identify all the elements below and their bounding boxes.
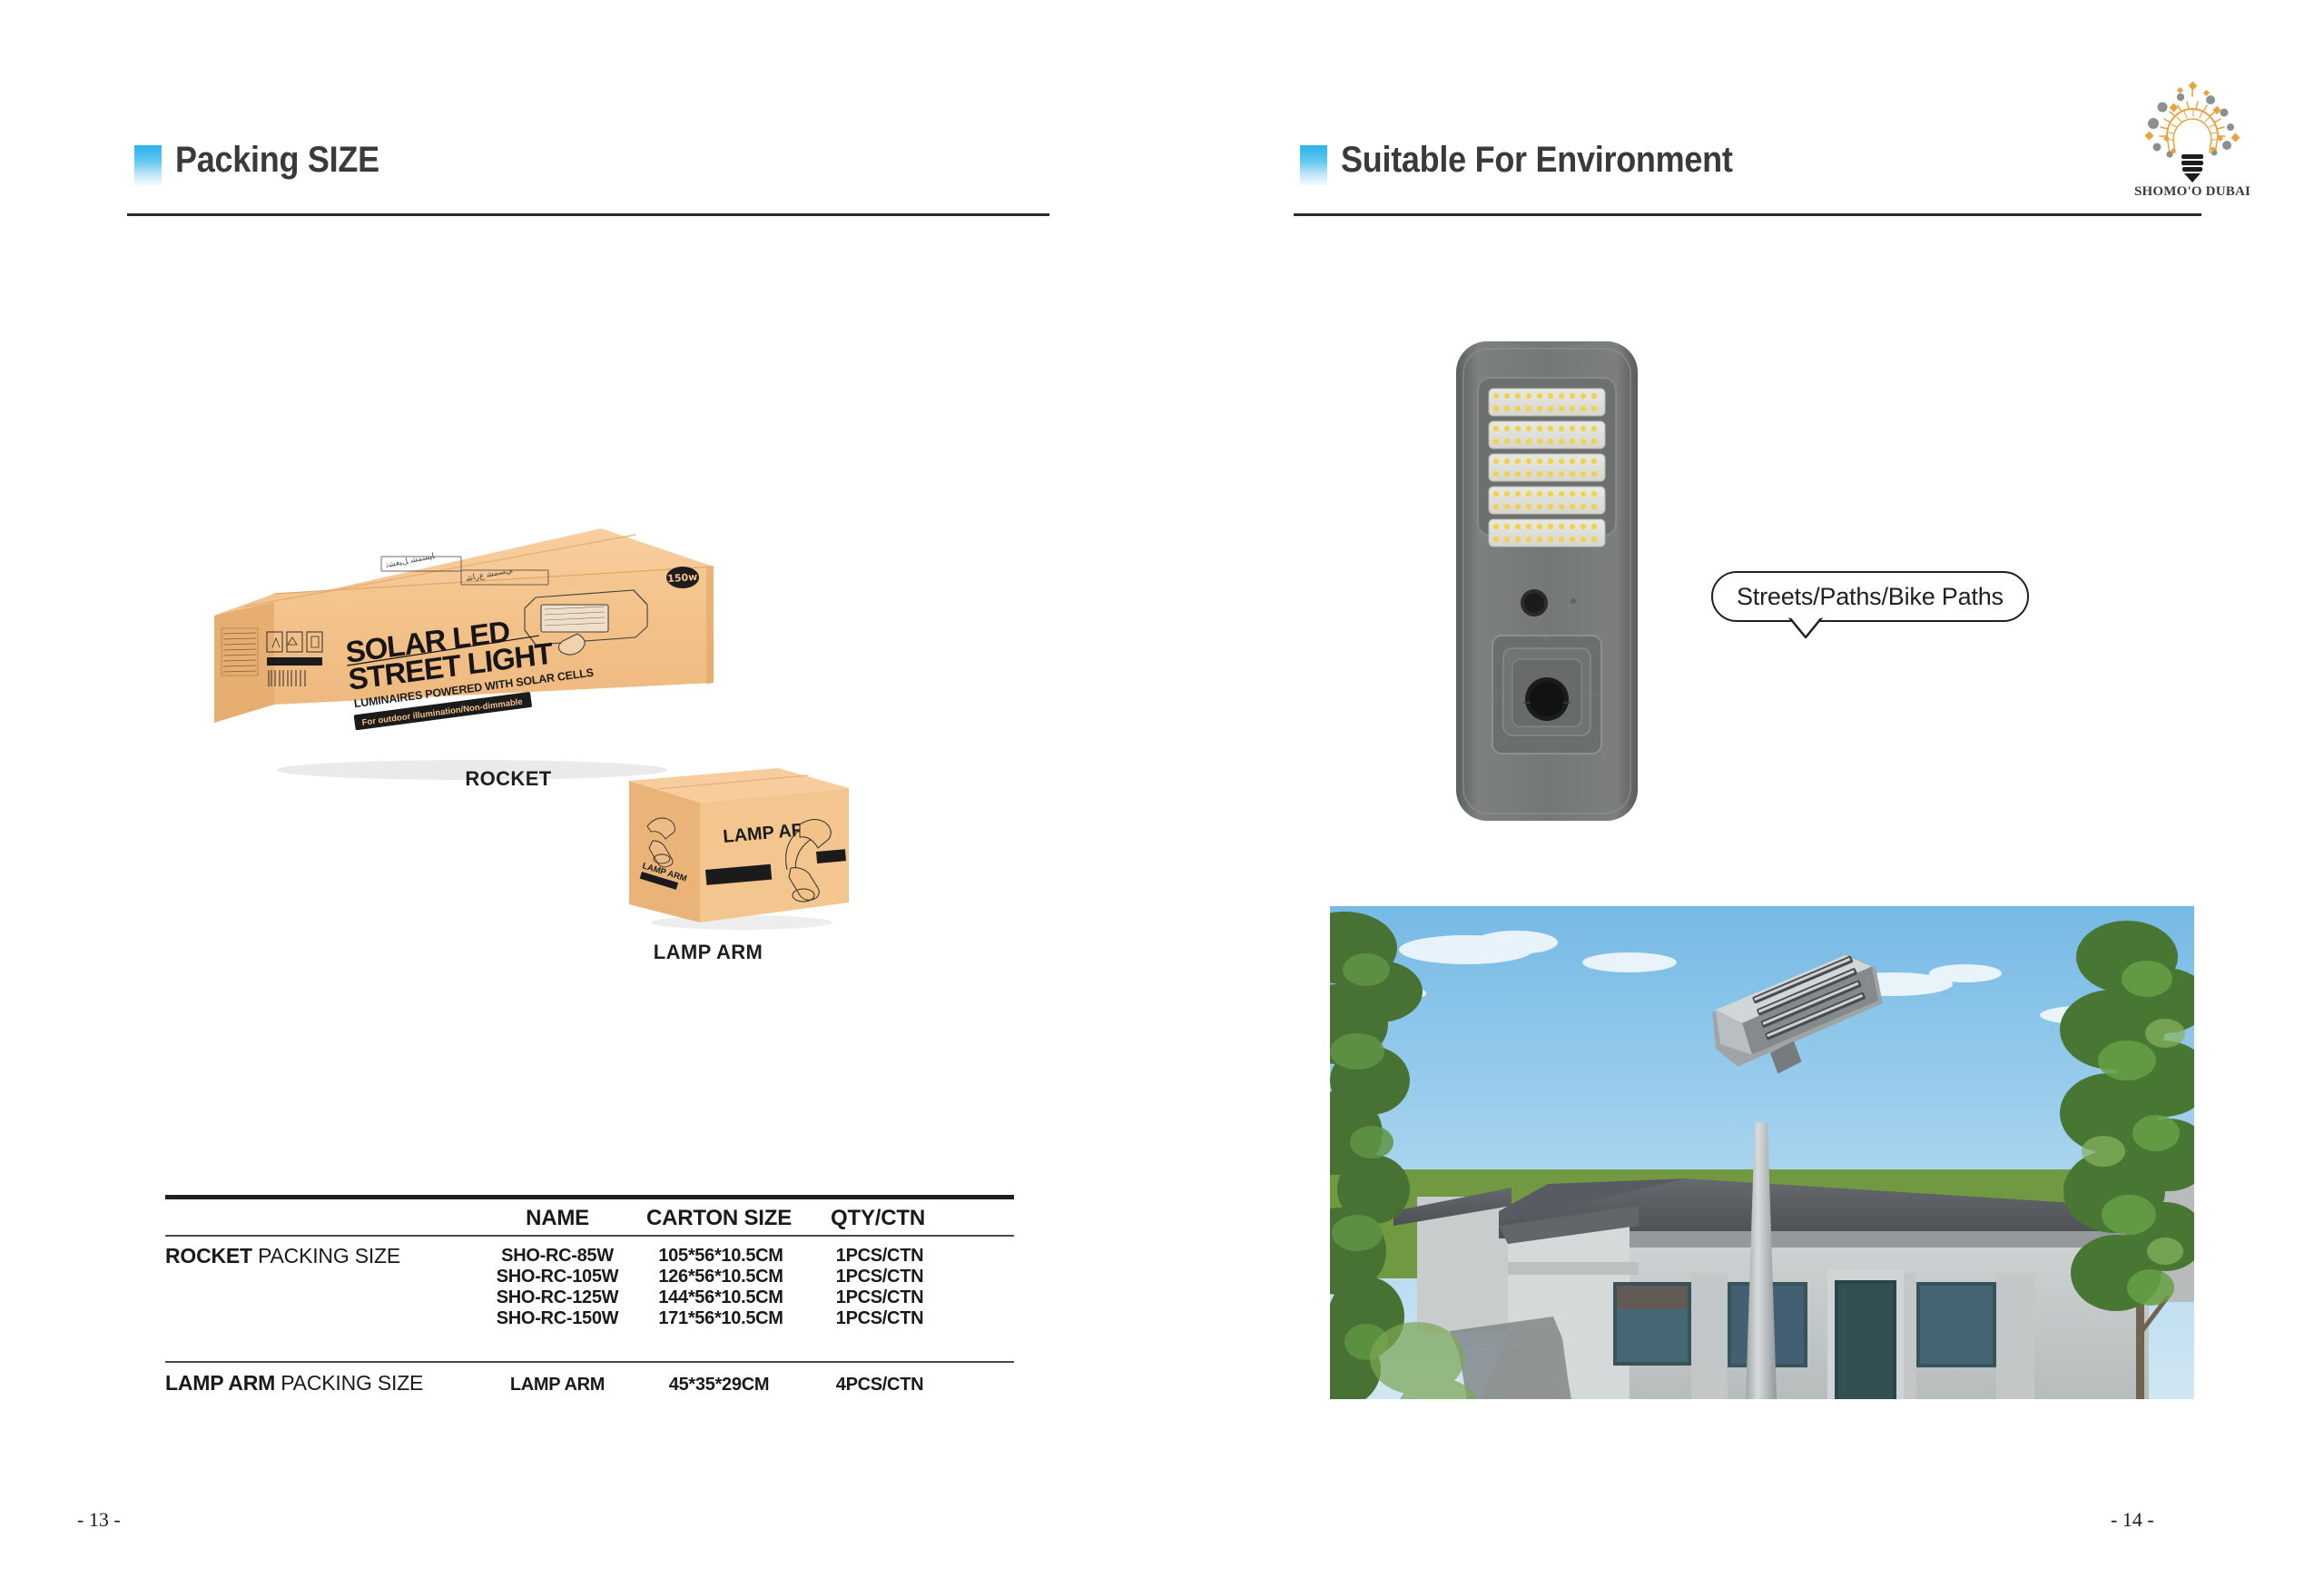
table-row: SHO-RC-125W [497, 1287, 619, 1308]
table-header-rule [165, 1235, 1014, 1237]
page-title: Packing SIZE [175, 140, 379, 181]
table-row: SHO-RC-150W [497, 1308, 619, 1329]
table-row: 1PCS/CTN [836, 1308, 924, 1329]
right-page: Suitable For Environment [1162, 0, 2324, 1588]
table-row: SHO-RC-105W [497, 1267, 619, 1287]
rocket-carton-illustration: ﺎﻴﺴﻤﺸ ﻞﻴﻐﺸﺗ ﻲﺴﻤﺸ ﻉﺭﺎﺷ 150w [209, 527, 717, 790]
row-group-label-rocket-bold: ROCKET [165, 1244, 252, 1267]
row-group-label-rocket: ROCKET PACKING SIZE [165, 1244, 400, 1268]
table-row: 4PCS/CTN [836, 1375, 924, 1396]
table-row: 144*56*10.5CM [658, 1287, 783, 1308]
row-group-label-lamp-arm-bold: LAMP ARM [165, 1371, 275, 1395]
brand-logo: Shomo'o Dubai [2124, 80, 2260, 198]
svg-text:150w: 150w [667, 571, 698, 585]
row-group-label-lamp-arm-rest: PACKING SIZE [275, 1371, 423, 1395]
left-page-number: - 13 - [77, 1508, 121, 1532]
installation-scene-photo [1330, 906, 2194, 1399]
catalog-spread: Packing SIZE [0, 0, 2324, 1588]
callout-tail-icon [1788, 616, 1823, 638]
right-header-rule [1294, 213, 2201, 216]
table-row: 105*56*10.5CM [658, 1246, 783, 1267]
table-row: 1PCS/CTN [836, 1287, 924, 1308]
left-section-header: Packing SIZE [134, 145, 679, 196]
table-row: SHO-RC-85W [501, 1246, 614, 1267]
left-header-rule [127, 213, 1049, 216]
right-page-number: - 14 - [2111, 1508, 2154, 1532]
table-group-rule [165, 1361, 1014, 1363]
lamp-arm-caption: LAMP ARM [581, 941, 835, 964]
rocket-carton-svg: ﺎﻴﺴﻤﺸ ﻞﻴﻐﺸﺗ ﻲﺴﻤﺸ ﻉﺭﺎﺷ 150w [209, 527, 717, 790]
table-row: 45*35*29CM [669, 1375, 769, 1396]
installation-scene-svg [1330, 906, 2194, 1399]
environment-callout: Streets/Paths/Bike Paths [1711, 571, 2029, 622]
blue-gradient-square-icon [134, 145, 162, 185]
page-title: Suitable For Environment [1341, 140, 1733, 181]
table-top-rule [165, 1195, 1014, 1199]
packing-size-table: NAME CARTON SIZE QTY/CTN ROCKET PACKING … [165, 1195, 1014, 1404]
row-group-label-rocket-rest: PACKING SIZE [252, 1244, 400, 1267]
table-row: 1PCS/CTN [836, 1246, 924, 1267]
lamp-arm-carton-svg: LAMP ARM LAMP ARM [622, 761, 858, 933]
column-header-carton-size: CARTON SIZE [646, 1206, 792, 1231]
solar-street-light-svg [1451, 336, 1643, 826]
lamp-arm-carton-illustration: LAMP ARM LAMP ARM [622, 761, 858, 933]
table-row: 1PCS/CTN [836, 1267, 924, 1287]
blue-gradient-square-icon [1300, 145, 1327, 185]
lightbulb-rays-logo-icon [2124, 80, 2260, 187]
brand-name: Shomo'o Dubai [2124, 184, 2260, 200]
left-page: Packing SIZE [0, 0, 1162, 1588]
table-row: 171*56*10.5CM [658, 1308, 783, 1329]
rocket-caption: ROCKET [372, 767, 645, 791]
column-header-name: NAME [526, 1206, 589, 1231]
table-row: LAMP ARM [510, 1375, 605, 1396]
table-row: 126*56*10.5CM [658, 1267, 783, 1287]
column-header-qty: QTY/CTN [831, 1206, 925, 1231]
row-group-label-lamp-arm: LAMP ARM PACKING SIZE [165, 1371, 423, 1396]
solar-street-light-product [1451, 336, 1643, 826]
right-section-header: Suitable For Environment [1300, 145, 2026, 196]
